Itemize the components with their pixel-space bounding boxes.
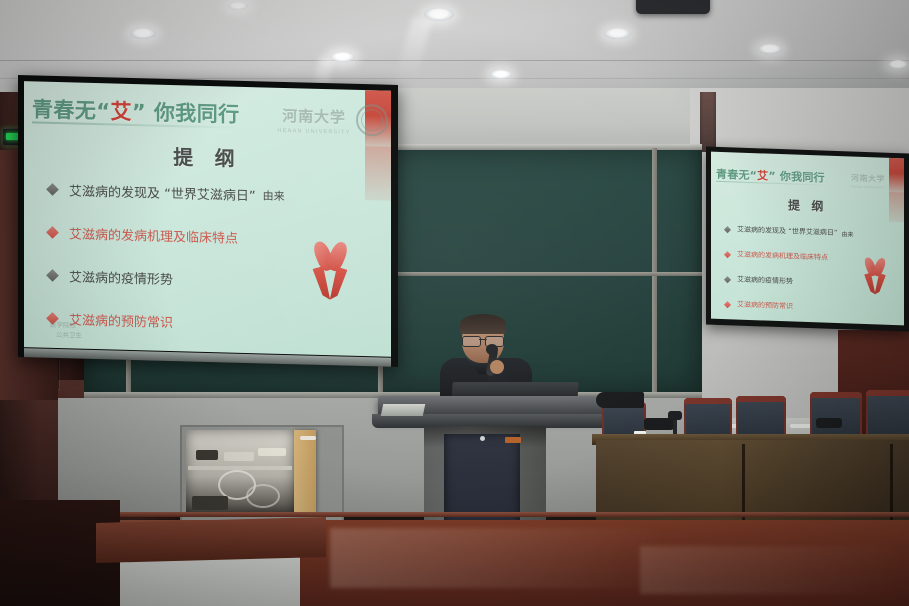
- desk-equipment: [596, 392, 644, 408]
- university-logo: 河南大学 HENAN UNIVERSITY: [837, 170, 899, 192]
- bullet-diamond-icon: [724, 251, 731, 258]
- aids-ribbon-icon: [863, 257, 889, 298]
- desk-equipment: [816, 418, 842, 428]
- podium-label: [505, 437, 521, 443]
- cabinet-equipment: [258, 448, 286, 456]
- cabinet-handle[interactable]: [300, 436, 316, 440]
- slide-bullet-text: 艾滋病的发现及 “世界艾滋病日”: [737, 225, 837, 239]
- main-projection-screen: 青春无“艾” 你我同行 河南大学 HENAN UNIVERSITY 提 纲 艾滋…: [18, 75, 398, 367]
- slide-title-quote-close: ”: [768, 170, 775, 183]
- bullet-diamond-icon: [46, 269, 59, 282]
- floor-reflection: [640, 546, 900, 594]
- slide-title-part1: 青春无: [32, 97, 96, 123]
- ceiling-downlight: [604, 28, 631, 39]
- podium-power-led: [480, 436, 485, 441]
- bullet-diamond-icon: [46, 226, 59, 239]
- wood-trim-right: [700, 92, 716, 152]
- slide-title-highlight: 艾: [111, 99, 132, 124]
- slide-bullet: 艾滋病的发现及 “世界艾滋病日” 由来: [725, 224, 904, 240]
- ceiling-downlight: [758, 44, 782, 54]
- ceiling-downlight: [228, 2, 248, 10]
- ceiling-downlight: [130, 28, 156, 39]
- slide-bullet-text: 艾滋病的发现及 “世界艾滋病日”: [69, 180, 256, 204]
- bullet-diamond-icon: [724, 276, 731, 283]
- slide-heading: 提 纲: [24, 137, 391, 176]
- university-logo-mark: 河南大学: [851, 173, 885, 185]
- ceiling-downlight: [330, 52, 355, 62]
- ceiling-seam: [0, 60, 909, 61]
- slide-bullet-text: 艾滋病的疫情形势: [69, 266, 173, 288]
- microphone-head: [486, 344, 498, 355]
- slide-watermark-line1: 医学院校: [50, 321, 82, 331]
- slide-bullet-text: 艾滋病的发病机理及临床特点: [69, 223, 238, 246]
- slide-secondary: 青春无“艾” 你我同行 河南大学 HENAN UNIVERSITY 提 纲 艾滋…: [711, 152, 904, 326]
- stage-edge: [0, 512, 909, 517]
- podium-papers: [381, 404, 426, 416]
- cabinet-cable: [246, 484, 280, 508]
- slide-main: 青春无“艾” 你我同行 河南大学 HENAN UNIVERSITY 提 纲 艾滋…: [24, 81, 391, 357]
- bullet-diamond-icon: [46, 183, 59, 196]
- presenter-hand: [490, 360, 504, 374]
- slide-bullet-text: 艾滋病的预防常识: [737, 300, 793, 312]
- university-logo-text: HENAN UNIVERSITY: [850, 184, 885, 189]
- ceiling-downlight: [424, 8, 454, 21]
- slide-title-part1: 青春无: [716, 168, 750, 182]
- slide-bullet-text: 艾滋病的预防常识: [69, 309, 173, 331]
- bullet-diamond-icon: [724, 226, 731, 233]
- slide-bullet-text: 艾滋病的疫情形势: [737, 275, 793, 287]
- slide-bullet: 艾滋病的预防常识: [48, 309, 378, 337]
- slide-title-quote-open: “: [750, 169, 757, 182]
- chair[interactable]: [866, 390, 909, 440]
- cabinet-equipment: [224, 452, 254, 461]
- lecture-hall-photo: 青春无“艾” 你我同行 河南大学 HENAN UNIVERSITY 提 纲 艾滋…: [0, 0, 909, 606]
- presenter-hair: [460, 314, 506, 334]
- cabinet-door[interactable]: [294, 430, 316, 514]
- ceiling-downlight: [490, 70, 512, 79]
- slide-title-highlight: 艾: [757, 169, 768, 182]
- cabinet-equipment: [196, 450, 218, 460]
- ceiling-projector-mount: [636, 0, 710, 14]
- university-logo: 河南大学 HENAN UNIVERSITY: [256, 101, 372, 138]
- slide-heading: 提 纲: [711, 194, 904, 218]
- slide-bullet-tail: 由来: [263, 187, 285, 204]
- glasses-icon: [462, 336, 504, 345]
- slide-title-part2: 你我同行: [154, 101, 240, 127]
- aids-ribbon-icon: [310, 241, 354, 304]
- slide-bullet-tail: 由来: [841, 229, 853, 238]
- chair[interactable]: [810, 392, 862, 440]
- slide-bullet-text: 艾滋病的发病机理及临床特点: [737, 250, 828, 263]
- ceiling-downlight: [888, 60, 908, 69]
- slide-title-quote-close: ”: [132, 100, 146, 124]
- slide-watermark-line2: 公共卫生: [56, 331, 82, 341]
- floor-reflection: [330, 528, 660, 588]
- slide-watermark: 医学院校 公共卫生: [50, 321, 82, 341]
- wall-cabinet-handle[interactable]: [790, 424, 812, 428]
- university-logo-text: HENAN UNIVERSITY: [277, 127, 350, 135]
- university-seal-icon: [356, 104, 388, 137]
- slide-bullet: 艾滋病的预防常识: [725, 299, 904, 315]
- stage-step: [96, 517, 326, 563]
- university-logo-mark: 河南大学: [282, 104, 346, 127]
- secondary-projection-screen: 青春无“艾” 你我同行 河南大学 HENAN UNIVERSITY 提 纲 艾滋…: [706, 146, 909, 331]
- cabinet-equipment: [192, 496, 228, 510]
- slide-bullet: 艾滋病的发现及 “世界艾滋病日” 由来: [48, 180, 378, 208]
- bullet-diamond-icon: [724, 301, 731, 308]
- slide-title-quote-open: “: [96, 99, 110, 123]
